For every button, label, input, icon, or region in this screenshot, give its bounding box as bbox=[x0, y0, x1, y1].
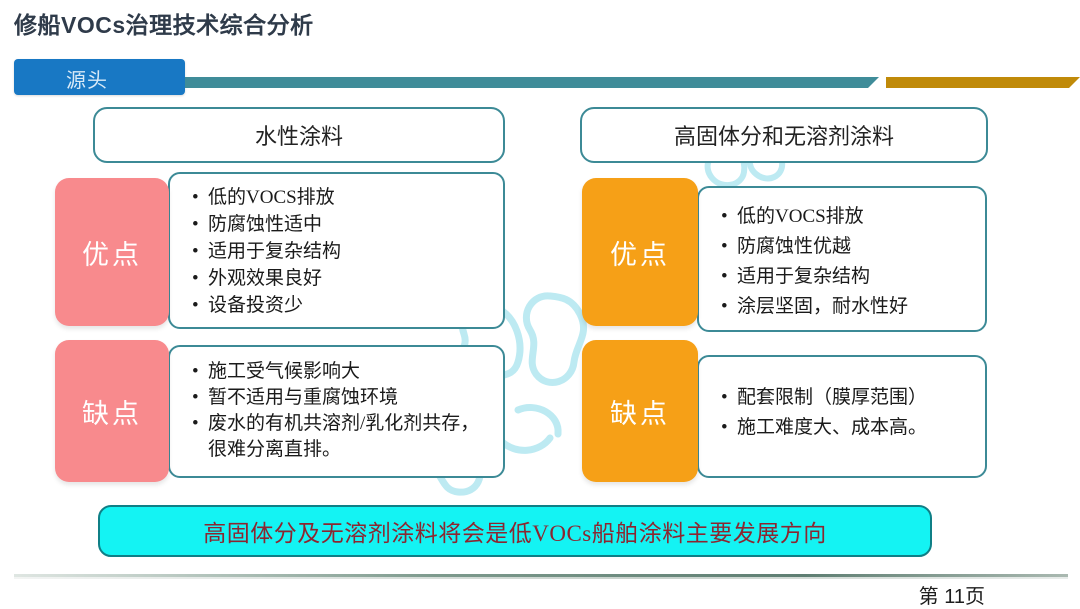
list-item: 适用于复杂结构 bbox=[192, 238, 489, 265]
list-item: 防腐蚀性优越 bbox=[721, 232, 971, 262]
page-title: 修船VOCs治理技术综合分析 bbox=[14, 6, 314, 40]
bullet-list: 施工受气候影响大 暂不适用与重腐蚀环境 废水的有机共溶剂/乳化剂共存， 很难分离… bbox=[192, 359, 489, 463]
list-item: 适用于复杂结构 bbox=[721, 262, 971, 292]
list-item: 低的VOCS排放 bbox=[721, 202, 971, 232]
bullet-list: 低的VOCS排放 防腐蚀性优越 适用于复杂结构 涂层坚固，耐水性好 bbox=[721, 202, 971, 322]
list-item: 低的VOCS排放 bbox=[192, 184, 489, 211]
label-chip-text: 缺点 bbox=[610, 392, 670, 431]
list-item: 设备投资少 bbox=[192, 292, 489, 319]
list-item: 防腐蚀性适中 bbox=[192, 211, 489, 238]
list-item: 配套限制（膜厚范围） bbox=[721, 383, 971, 413]
source-tab-label: 源头 bbox=[66, 64, 108, 93]
bullet-panel-cons-right: 配套限制（膜厚范围） 施工难度大、成本高。 bbox=[697, 355, 987, 478]
label-chip-pros-right: 优点 bbox=[582, 178, 698, 326]
ribbon-bar: 源头 bbox=[0, 56, 1080, 100]
list-item: 施工难度大、成本高。 bbox=[721, 413, 971, 443]
bullet-list: 低的VOCS排放 防腐蚀性适中 适用于复杂结构 外观效果良好 设备投资少 bbox=[192, 184, 489, 319]
label-chip-text: 缺点 bbox=[82, 392, 142, 431]
list-item: 暂不适用与重腐蚀环境 bbox=[192, 385, 489, 411]
conclusion-text: 高固体分及无溶剂涂料将会是低VOCs船舶涂料主要发展方向 bbox=[203, 514, 827, 548]
column-header-label: 水性涂料 bbox=[255, 119, 343, 151]
column-header-water-based: 水性涂料 bbox=[93, 107, 505, 163]
gold-accent-bar bbox=[886, 77, 1069, 88]
label-chip-cons-left: 缺点 bbox=[55, 340, 169, 482]
label-chip-text: 优点 bbox=[610, 233, 670, 272]
label-chip-pros-left: 优点 bbox=[55, 178, 169, 326]
list-item: 涂层坚固，耐水性好 bbox=[721, 292, 971, 322]
label-chip-text: 优点 bbox=[82, 233, 142, 272]
bullet-list: 配套限制（膜厚范围） 施工难度大、成本高。 bbox=[721, 383, 971, 443]
footer-divider bbox=[14, 574, 1068, 577]
teal-accent-bar bbox=[185, 77, 868, 88]
bullet-panel-pros-right: 低的VOCS排放 防腐蚀性优越 适用于复杂结构 涂层坚固，耐水性好 bbox=[697, 186, 987, 332]
bullet-panel-pros-left: 低的VOCS排放 防腐蚀性适中 适用于复杂结构 外观效果良好 设备投资少 bbox=[168, 172, 505, 329]
list-item: 外观效果良好 bbox=[192, 265, 489, 292]
page-number: 第 11页 bbox=[919, 580, 985, 609]
label-chip-cons-right: 缺点 bbox=[582, 340, 698, 482]
source-tab[interactable]: 源头 bbox=[14, 59, 185, 95]
bullet-panel-cons-left: 施工受气候影响大 暂不适用与重腐蚀环境 废水的有机共溶剂/乳化剂共存， 很难分离… bbox=[168, 345, 505, 478]
list-item: 废水的有机共溶剂/乳化剂共存， 很难分离直排。 bbox=[192, 411, 489, 463]
conclusion-banner: 高固体分及无溶剂涂料将会是低VOCs船舶涂料主要发展方向 bbox=[98, 505, 932, 557]
column-header-high-solids: 高固体分和无溶剂涂料 bbox=[580, 107, 988, 163]
list-item: 施工受气候影响大 bbox=[192, 359, 489, 385]
column-header-label: 高固体分和无溶剂涂料 bbox=[674, 119, 894, 151]
